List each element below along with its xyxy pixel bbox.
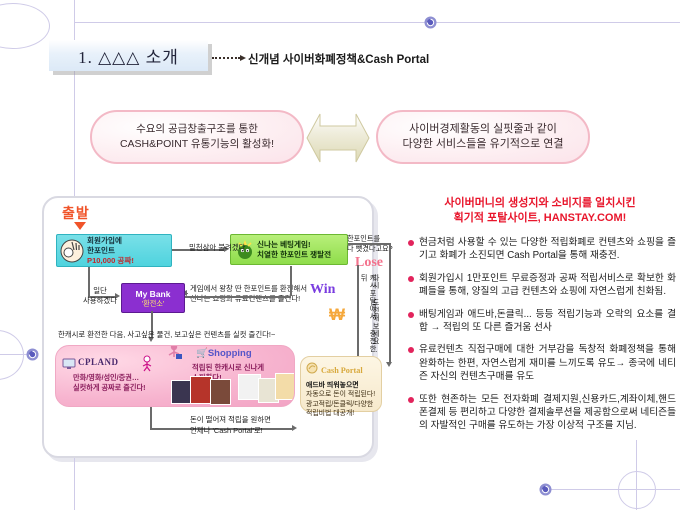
bubble-right-line1: 사이버경제활동의 실핏줄과 같이 xyxy=(409,122,557,137)
cash-portal-line4: 적립비법 대공개! xyxy=(306,410,354,417)
bubble-right-line2: 다양한 서비스들을 유기적으로 연결 xyxy=(403,137,564,152)
betting-game-box: 신나는 베팅게임! 치열한 한포인트 쟁탈전 xyxy=(230,234,348,265)
label-addbar: 돈이 떨어져 적립을 원하면 언제나 'Cash Portal'로! xyxy=(190,414,271,436)
right-headline-line1: 사이버머니의 생성지와 소비지를 일치시킨 xyxy=(404,196,676,211)
decor-bottom-line xyxy=(545,489,680,490)
bullet-icon xyxy=(408,397,414,403)
right-bullet-list: 현금처럼 사용할 수 있는 다양한 적립화폐로 컨텐츠와 쇼핑을 즐기고 화폐가… xyxy=(408,236,676,442)
signup-box: 회원가입에 한포인트 P10,000 공짜! xyxy=(56,234,172,267)
connector-arrow xyxy=(386,362,392,367)
label-play: 밑천삼아 불려겠다 xyxy=(189,243,245,253)
connector-line xyxy=(186,296,291,298)
thumbnail xyxy=(171,380,192,404)
connector-line xyxy=(290,266,292,296)
decor-circle-left xyxy=(0,330,24,380)
cash-portal-line2: 자동으로 돈이 적립된다! xyxy=(306,391,375,398)
shopping-brand-text: Shopping xyxy=(208,348,252,359)
game-line2: 치열한 한포인트 쟁탈전 xyxy=(257,250,331,259)
cart-icon: 🛒 xyxy=(196,348,208,359)
bullet-text: 회원가입시 1만포인트 무료증정과 공짜 적립서비스로 확보한 화폐들을 통해,… xyxy=(419,272,676,299)
right-headline: 사이버머니의 생성지와 소비지를 일치시킨 획기적 포탈사이트, HANSTAY… xyxy=(404,196,676,226)
double-arrow-icon xyxy=(306,108,370,168)
bullet-text: 배팅게임과 애드바,돈클릭... 등등 적립기능과 오락의 요소를 결합 → 적… xyxy=(419,308,676,335)
cpland-brand: CPLAND xyxy=(78,357,119,367)
slide-canvas: 1. △△△ 소개 신개념 사이버화폐정책&Cash Portal 수요의 공급… xyxy=(0,0,680,510)
cpland-sub-line1: 만화/영화/성인/증권… xyxy=(73,373,139,382)
bullet-icon xyxy=(408,276,414,282)
thumbnail xyxy=(275,373,295,400)
mybank-title: My Bank xyxy=(136,289,171,299)
shopping-sub-line1: 적립된 한캐시로 신나게 xyxy=(192,363,264,372)
shopping-brand: 🛒Shopping xyxy=(196,348,252,359)
spiral-icon xyxy=(539,483,552,496)
bubble-left-line2: CASH&POINT 유통기능의 활성화! xyxy=(120,137,274,152)
bullet-icon xyxy=(408,240,414,246)
signup-line3: P10,000 공짜! xyxy=(87,256,134,265)
decor-top-line xyxy=(74,22,680,23)
cpland-sub: 만화/영화/성인/증권… 실컷하게 공짜로 즐긴다! xyxy=(73,373,146,393)
label-once-line2: 사용하겠다 xyxy=(83,296,117,305)
start-arrow-icon xyxy=(74,222,86,230)
decor-circle-bottomright xyxy=(618,471,656,509)
list-item: 유료컨텐츠 직접구매에 대한 거부감을 독창적 화폐정책을 통해 완화하는 한편… xyxy=(408,343,676,383)
spiral-icon xyxy=(26,348,39,361)
cash-portal-box: Cash Portal 애드바 띄워놓으면 자동으로 돈이 적립된다! 광고적립… xyxy=(300,356,382,412)
list-item: 현금처럼 사용할 수 있는 다양한 적립화폐로 컨텐츠와 쇼핑을 즐기고 화폐가… xyxy=(408,236,676,263)
cash-portal-body: 애드바 띄워놓으면 자동으로 돈이 적립된다! 광고적립/돈클릭/다양한 적립비… xyxy=(306,381,376,419)
connector-line xyxy=(186,293,188,294)
signup-line1: 회원가입에 xyxy=(87,236,122,245)
bullet-icon xyxy=(408,312,414,318)
content-shopping-box: CPLAND 만화/영화/성인/증권… 실컷하게 공짜로 즐긴다! 🛒Shopp… xyxy=(55,345,295,407)
connector-line xyxy=(348,243,390,245)
bullet-text: 현금처럼 사용할 수 있는 다양한 적립화폐로 컨텐츠와 쇼핑을 즐기고 화폐가… xyxy=(419,236,676,263)
game-line1: 신나는 베팅게임! xyxy=(257,240,311,249)
label-hanpoint-line1: 한포인트를 xyxy=(347,234,380,243)
signup-line2: 한포인트 xyxy=(87,246,115,255)
title-connector-arrow xyxy=(212,52,246,64)
ok-hand-icon xyxy=(59,238,85,264)
label-addbar-line2: 언제나 'Cash Portal'로! xyxy=(190,426,263,435)
cpland-sub-line2: 실컷하게 공짜로 즐긴다! xyxy=(73,383,146,392)
label-once-line1: 일단 xyxy=(93,286,107,295)
connector-line xyxy=(357,265,359,360)
game-text: 신나는 베팅게임! 치열한 한포인트 쟁탈전 xyxy=(257,240,331,260)
label-addbar-line1: 돈이 떨어져 적립을 원하면 xyxy=(190,415,271,424)
cash-portal-title: Cash Portal xyxy=(321,366,363,375)
bubble-left-line1: 수요의 공급창출구조를 통한 xyxy=(136,122,258,137)
lose-label: Lose xyxy=(355,255,383,271)
page-title: 1. △△△ 소개 xyxy=(78,43,179,68)
label-hanpoint-line2: 다 뺏겼다고요? xyxy=(347,244,393,253)
bullet-text: 또한 현존하는 모든 전자화폐 결제지원,신용카드,계좌이체,핸드폰결제 등 편… xyxy=(419,393,676,433)
spiral-icon xyxy=(424,16,437,29)
connector-line xyxy=(389,243,391,363)
shopper-icon xyxy=(164,345,184,369)
label-after: 한캐시로 환전한 다음, 사고싶은 물건, 보고싶은 컨텐츠를 실컷 즐긴다!~ xyxy=(58,330,275,340)
mybank-sub: '환전소' xyxy=(142,299,165,308)
list-item: 회원가입시 1만포인트 무료증정과 공짜 적립서비스로 확보한 화폐들을 통해,… xyxy=(408,272,676,299)
cash-portal-line1: 애드바 띄워놓으면 xyxy=(306,382,359,389)
slide-subtitle: 신개념 사이버화폐정책&Cash Portal xyxy=(248,51,429,67)
bullet-text: 유료컨텐츠 직접구매에 대한 거부감을 독창적 화폐정책을 통해 완화하는 한편… xyxy=(419,343,676,383)
mybank-box: My Bank '환전소' xyxy=(121,283,185,313)
label-once: 일단 사용하겠다 xyxy=(83,286,117,306)
coin-icon xyxy=(306,361,318,379)
thumbnail xyxy=(190,376,212,404)
cash-portal-line3: 광고적립/돈클릭/다양한 xyxy=(306,401,373,408)
win-label: Win xyxy=(310,282,335,298)
start-label: 출발 xyxy=(62,203,90,223)
connector-arrow xyxy=(292,425,297,431)
list-item: 또한 현존하는 모든 전자화폐 결제지원,신용카드,계좌이체,핸드폰결제 등 편… xyxy=(408,393,676,433)
vertical-text-retry: 다시 도전해보세요. xyxy=(372,274,381,358)
concept-bubble-left: 수요의 공급창출구조를 통한 CASH&POINT 유통기능의 활성화! xyxy=(90,110,304,164)
concept-bubble-right: 사이버경제활동의 실핏줄과 같이 다양한 서비스들을 유기적으로 연결 xyxy=(376,110,590,164)
list-item: 배팅게임과 애드바,돈클릭... 등등 적립기능과 오락의 요소를 결합 → 적… xyxy=(408,308,676,335)
signup-text: 회원가입에 한포인트 P10,000 공짜! xyxy=(87,236,134,266)
connector-line xyxy=(150,407,152,429)
won-currency-icon: ₩ xyxy=(329,305,345,325)
right-headline-line2: 획기적 포탈사이트, HANSTAY.COM! xyxy=(404,211,676,226)
thumbnail xyxy=(210,379,231,405)
slide-title-box: 1. △△△ 소개 xyxy=(49,40,208,71)
running-character-icon xyxy=(138,354,156,377)
bullet-icon xyxy=(408,347,414,353)
decor-circle-topleft xyxy=(0,3,50,49)
